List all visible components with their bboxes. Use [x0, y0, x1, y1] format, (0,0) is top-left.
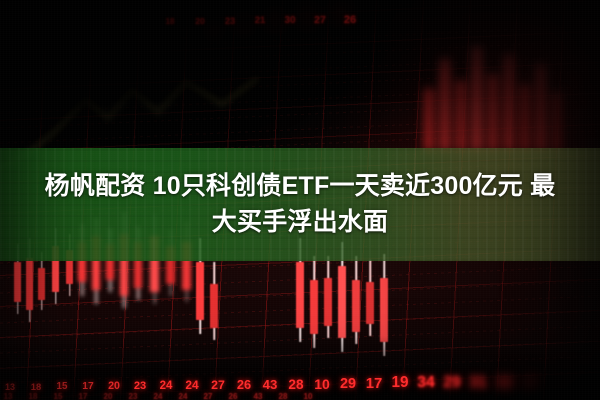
headline-card: 18202321302726 杨帆配资 10只科创债ETF一天卖近300亿元 最…: [0, 0, 600, 400]
headline-line-1: 杨帆配资 10只科创债ETF一天卖近300亿元 最: [45, 171, 556, 203]
vignette-bottom: [0, 336, 600, 400]
headline-block: 杨帆配资 10只科创债ETF一天卖近300亿元 最 大买手浮出水面: [0, 148, 600, 261]
headline-line-2: 大买手浮出水面: [212, 207, 388, 239]
